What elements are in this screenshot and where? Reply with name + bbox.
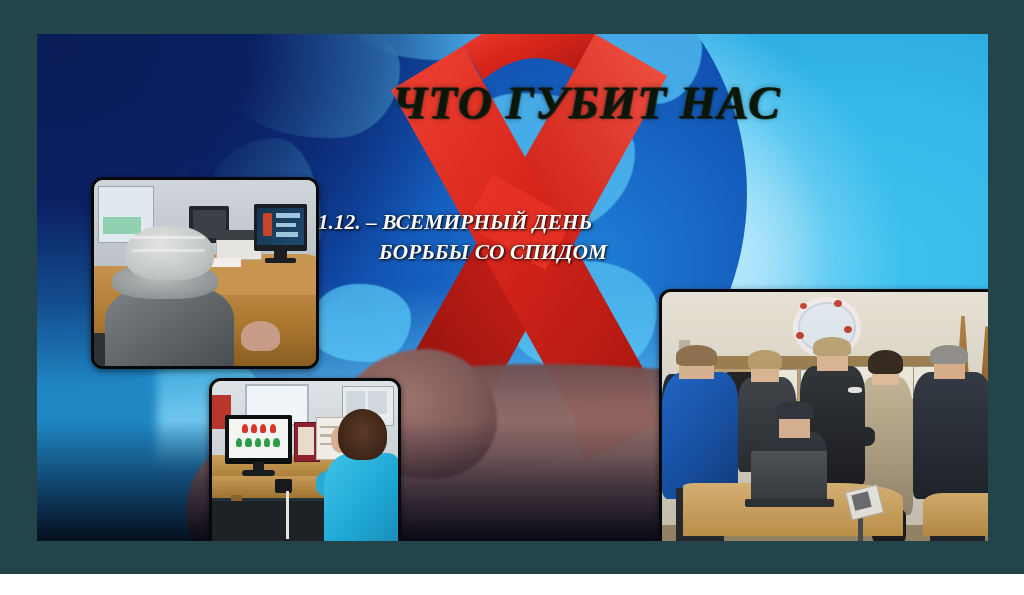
photo-elderly-woman-at-computer (91, 177, 319, 369)
subtitle-line-1: 01.12. – ВСЕМИРНЫЙ ДЕНЬ (307, 207, 707, 237)
screenshot-canvas: ЧТО ГУБИТ НАС 01.12. – ВСЕМИРНЫЙ ДЕНЬ БО… (0, 0, 1024, 595)
page-bottom-white-strip (0, 574, 1024, 595)
slide-title: ЧТО ГУБИТ НАС (392, 76, 972, 130)
photo-group-around-laptop-in-library (659, 289, 988, 541)
photo-woman-in-cyan-jacket-at-computer (209, 378, 401, 541)
slide-subtitle: 01.12. – ВСЕМИРНЫЙ ДЕНЬ БОРЬБЫ СО СПИДОМ (307, 207, 707, 267)
subtitle-line-2: БОРЬБЫ СО СПИДОМ (307, 237, 707, 267)
presentation-slide: ЧТО ГУБИТ НАС 01.12. – ВСЕМИРНЫЙ ДЕНЬ БО… (37, 34, 988, 541)
